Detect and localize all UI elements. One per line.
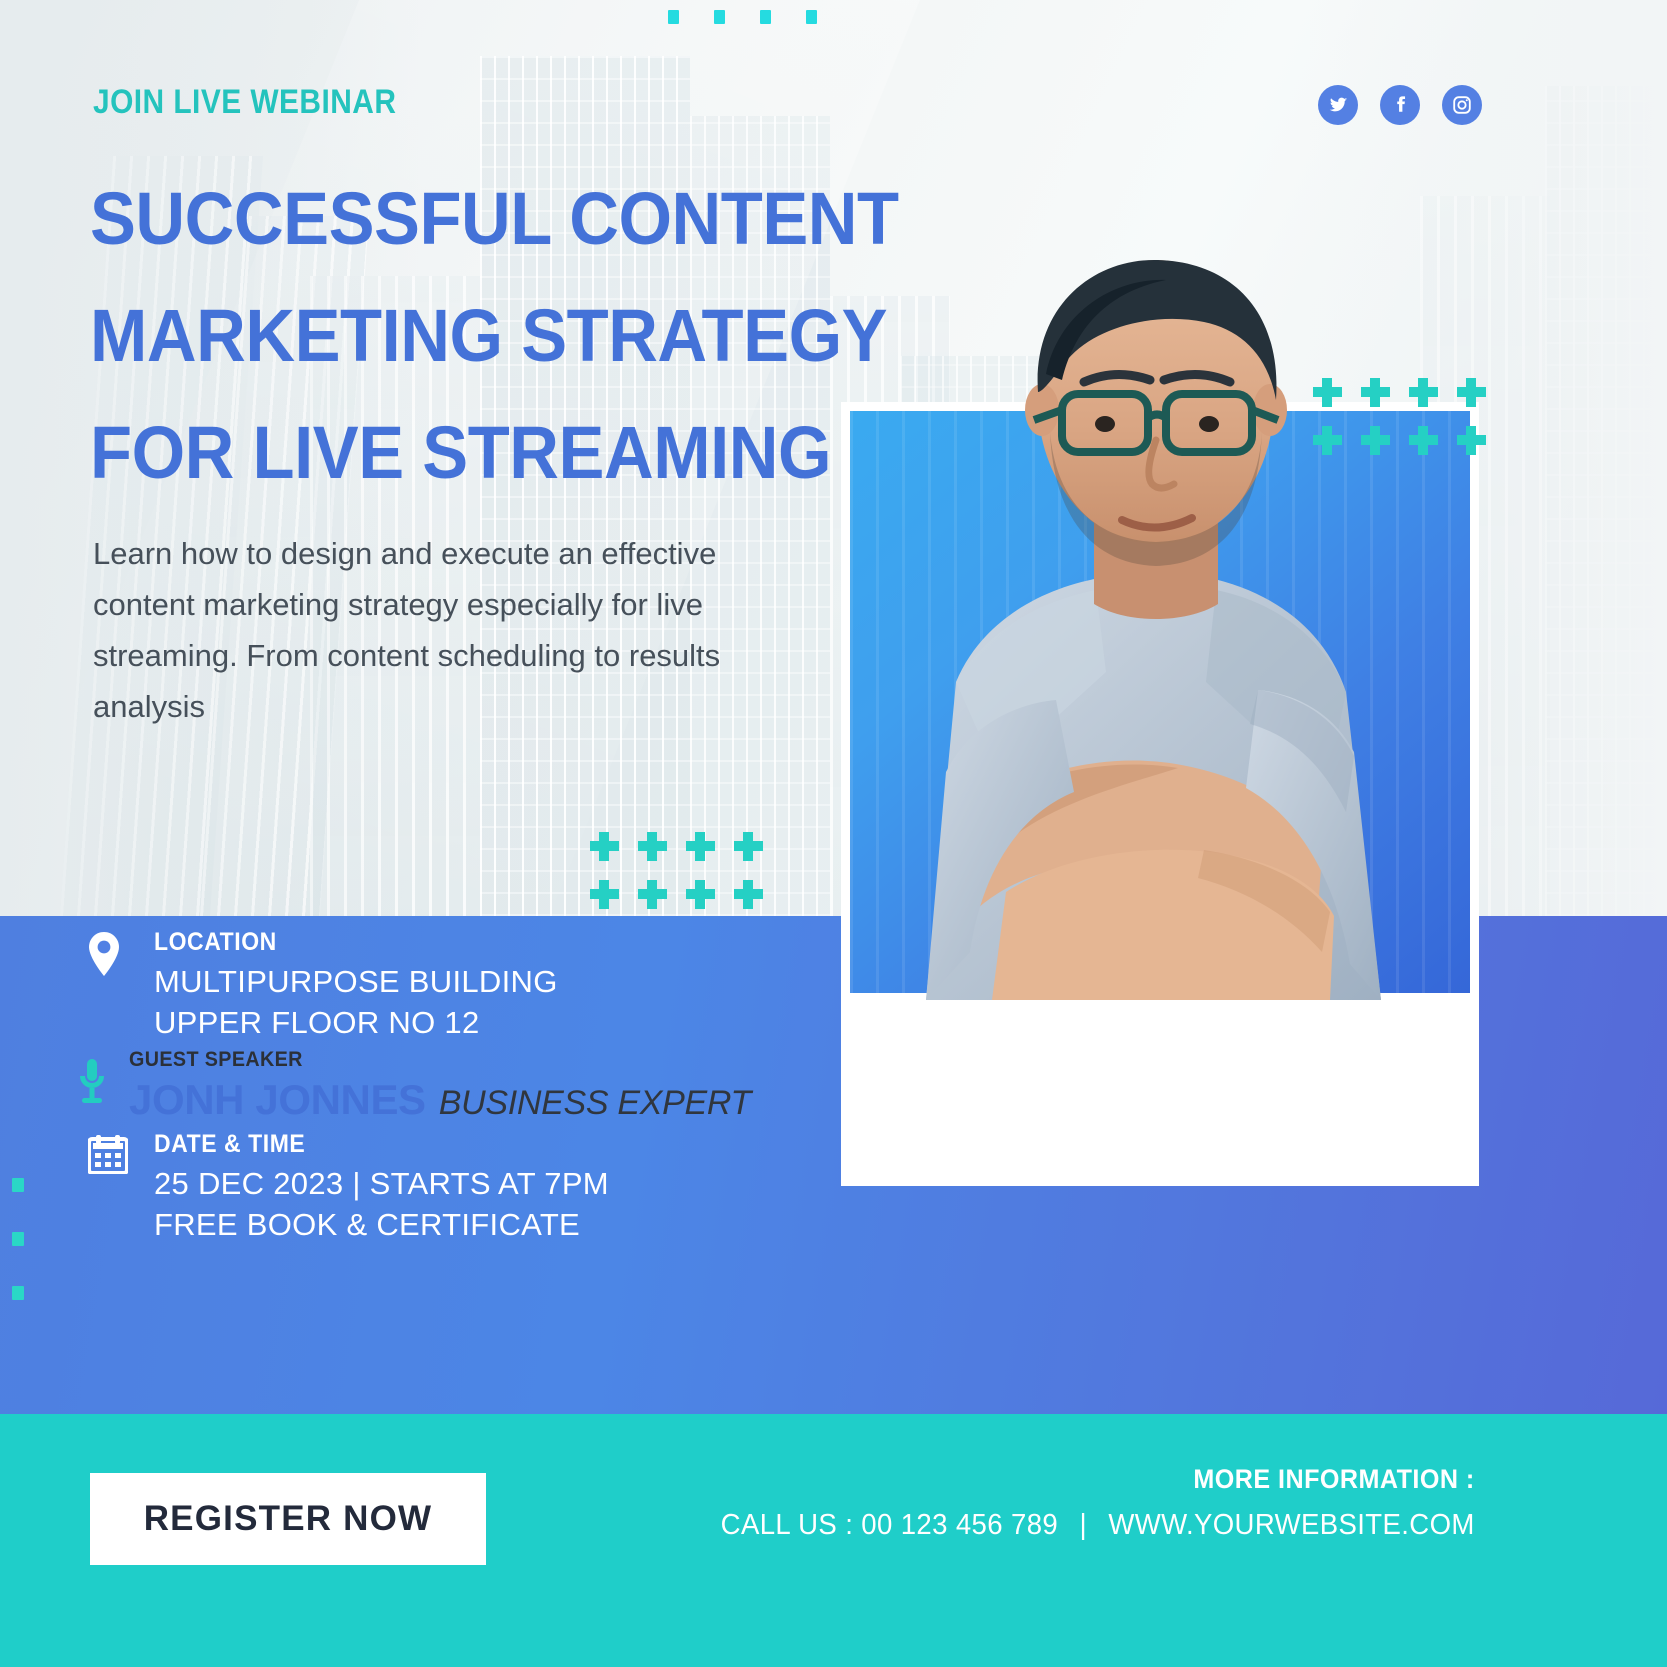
instagram-icon[interactable] xyxy=(1442,85,1482,125)
more-information: MORE INFORMATION : CALL US : 00 123 456 … xyxy=(681,1464,1475,1542)
plus-pattern-right xyxy=(1303,370,1495,466)
headline-line-1: SUCCESSFUL CONTENT xyxy=(90,160,843,277)
kicker-text: JOIN LIVE WEBINAR xyxy=(93,83,396,122)
webinar-poster: JOIN LIVE WEBINAR SUCCESSFUL CONTENT MAR… xyxy=(0,0,1667,1667)
headline-line-2: MARKETING STRATEGY xyxy=(90,277,843,394)
datetime-title: DATE & TIME xyxy=(154,1130,573,1159)
datetime-line-1: 25 DEC 2023 | STARTS AT 7PM xyxy=(154,1163,609,1204)
description-text: Learn how to design and execute an effec… xyxy=(93,528,733,732)
location-line-2: UPPER FLOOR NO 12 xyxy=(154,1002,558,1043)
speaker-name: JONH JONNES xyxy=(129,1076,426,1124)
datetime-block: DATE & TIME 25 DEC 2023 | STARTS AT 7PM … xyxy=(88,1130,609,1245)
headline-line-3: FOR LIVE STREAMING xyxy=(90,394,843,511)
calendar-icon xyxy=(88,1130,132,1245)
microphone-icon xyxy=(75,1048,109,1110)
speaker-label: GUEST SPEAKER xyxy=(129,1048,714,1072)
top-dot-row xyxy=(668,10,817,24)
location-line-1: MULTIPURPOSE BUILDING xyxy=(154,961,558,1002)
facebook-icon[interactable] xyxy=(1380,85,1420,125)
twitter-icon[interactable] xyxy=(1318,85,1358,125)
location-title: LOCATION xyxy=(154,928,525,957)
register-now-button[interactable]: REGISTER NOW xyxy=(90,1473,486,1565)
phone-number: CALL US : 00 123 456 789 xyxy=(721,1509,1058,1541)
more-information-title: MORE INFORMATION : xyxy=(737,1464,1475,1495)
speaker-photo xyxy=(806,252,1446,1000)
plus-pattern-left xyxy=(580,824,772,920)
map-pin-icon xyxy=(88,928,132,1043)
page-title: SUCCESSFUL CONTENT MARKETING STRATEGY FO… xyxy=(90,160,843,511)
speaker-caption-panel xyxy=(841,994,1479,1186)
speaker-caption: GUEST SPEAKER JONH JONNES BUSINESS EXPER… xyxy=(75,1048,751,1124)
speaker-role: BUSINESS EXPERT xyxy=(439,1084,751,1123)
left-dot-column xyxy=(12,1178,24,1300)
location-block: LOCATION MULTIPURPOSE BUILDING UPPER FLO… xyxy=(88,928,558,1043)
datetime-line-2: FREE BOOK & CERTIFICATE xyxy=(154,1204,609,1245)
footer-separator: | xyxy=(1066,1509,1100,1541)
website-url: WWW.YOURWEBSITE.COM xyxy=(1109,1509,1475,1541)
social-links xyxy=(1318,85,1482,125)
